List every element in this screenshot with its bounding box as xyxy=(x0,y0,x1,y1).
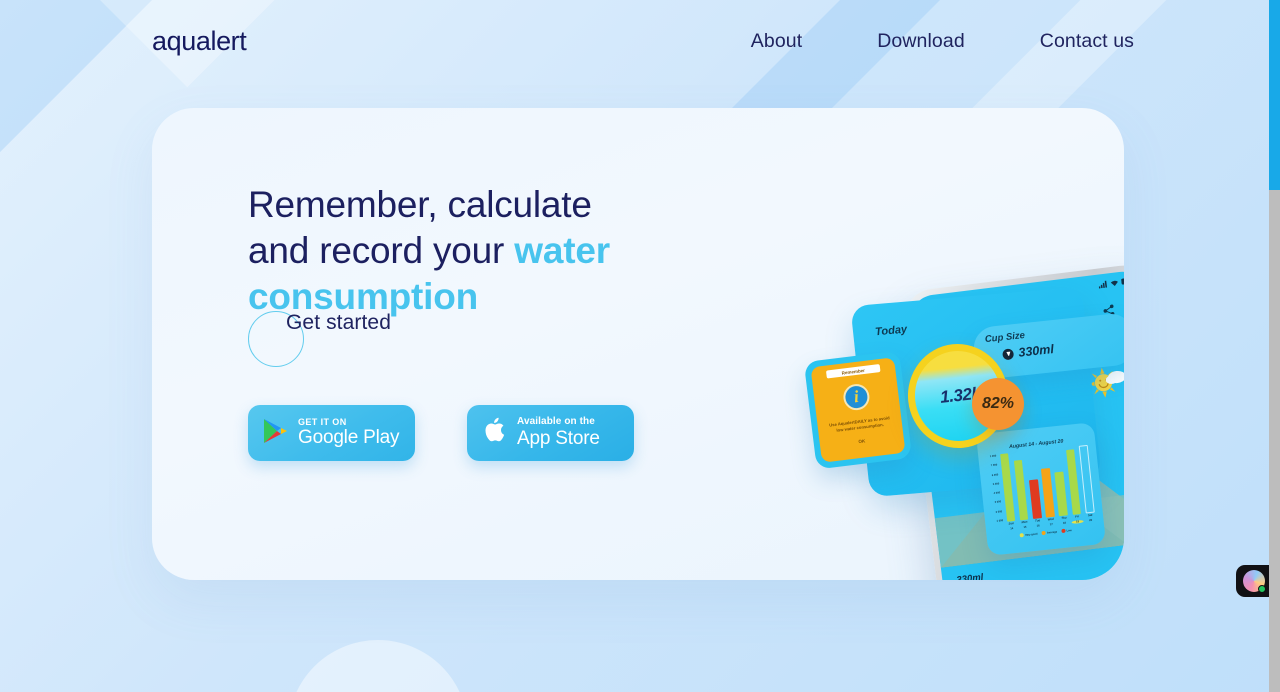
get-started-button[interactable]: Get started xyxy=(248,311,391,335)
wifi-icon xyxy=(1110,279,1119,287)
headline-accent-water: water xyxy=(514,230,610,271)
date-tick[interactable]: 18 xyxy=(1058,521,1070,525)
legend-label: Very good xyxy=(1025,532,1038,536)
weekly-chart-card: August 14 - August 20 1 000 7 000 6 000 … xyxy=(976,422,1106,556)
site-header: aqualert About Download Contact us xyxy=(0,0,1280,82)
google-play-icon xyxy=(262,417,288,450)
headline-line-1: Remember, calculate xyxy=(248,184,592,225)
cup-icon xyxy=(1002,348,1014,360)
remember-ok-button[interactable]: OK xyxy=(858,438,865,444)
legend-item: Low xyxy=(1061,528,1072,533)
chat-widget-button[interactable] xyxy=(1236,565,1272,597)
y-tick: 6 000 xyxy=(987,473,998,477)
date-tick[interactable]: 16 xyxy=(1032,524,1044,528)
status-icons xyxy=(1098,277,1124,288)
hero-card: Remember, calculateand record your water… xyxy=(152,108,1124,580)
signal-icon xyxy=(1098,280,1108,288)
chart-plot: 1 000 7 000 6 000 5 000 4 000 3 000 2 00… xyxy=(985,445,1096,523)
date-tick[interactable]: 15 xyxy=(1019,525,1031,529)
today-label: Today xyxy=(875,324,908,339)
avatar xyxy=(1243,570,1265,592)
nav-item-contact-us[interactable]: Contact us xyxy=(1040,30,1134,53)
page-background: aqualert About Download Contact us Remem… xyxy=(0,0,1280,692)
legend-item: Average xyxy=(1041,530,1057,536)
percent-badge: 82% xyxy=(972,378,1024,430)
battery-icon xyxy=(1121,277,1124,284)
google-play-button[interactable]: GET IT ON Google Play xyxy=(248,405,415,461)
legend-dot xyxy=(1041,531,1045,535)
bg-circle xyxy=(288,640,468,692)
app-mockup: 09:41 aqualert xyxy=(652,108,1124,578)
y-tick: 1 000 xyxy=(985,454,996,458)
date-tick[interactable]: 14 xyxy=(1006,527,1018,531)
date-tick[interactable]: 17 xyxy=(1045,523,1057,527)
legend-label: Low xyxy=(1066,529,1071,533)
y-tick: 3 000 xyxy=(990,501,1001,505)
date-tick-selected[interactable]: 19 xyxy=(1072,520,1084,524)
remember-body: Use AqualertDAILY as to avoid low water … xyxy=(829,415,891,435)
google-play-text: GET IT ON Google Play xyxy=(298,418,399,448)
brand-logo[interactable]: aqualert xyxy=(152,26,246,57)
google-play-main-label: Google Play xyxy=(298,428,399,448)
main-navigation: About Download Contact us xyxy=(751,30,1134,53)
info-icon: i xyxy=(842,383,871,412)
chart-bar xyxy=(1055,472,1068,516)
y-tick: 5 000 xyxy=(988,482,999,486)
scrollbar-thumb[interactable] xyxy=(1269,0,1280,190)
nav-item-about[interactable]: About xyxy=(751,30,802,53)
page-title: Remember, calculateand record your water… xyxy=(248,182,668,320)
app-store-top-label: Available on the xyxy=(517,417,600,428)
cup-size-value: 330ml xyxy=(1018,342,1055,360)
status-badge xyxy=(1258,585,1266,593)
hero-text-block: Remember, calculateand record your water… xyxy=(248,182,668,320)
y-tick: 2 000 xyxy=(991,510,1002,514)
store-badges: GET IT ON Google Play Available on the A… xyxy=(248,405,634,461)
y-tick: 7 000 xyxy=(986,464,997,468)
legend-item: Very good xyxy=(1019,532,1037,538)
apple-icon xyxy=(481,416,507,451)
remember-title: Remember xyxy=(826,364,881,379)
legend-label: Average xyxy=(1047,530,1057,534)
date-tick[interactable]: 20 xyxy=(1085,518,1097,522)
legend-dot xyxy=(1061,529,1065,533)
app-store-button[interactable]: Available on the App Store xyxy=(467,405,634,461)
app-store-text: Available on the App Store xyxy=(517,417,600,448)
nav-item-download[interactable]: Download xyxy=(877,30,965,53)
remember-notification-card: Remember i Use AqualertDAILY as to avoid… xyxy=(804,351,912,470)
headline-line-2: and record your xyxy=(248,230,514,271)
app-store-main-label: App Store xyxy=(517,429,600,449)
y-tick: 4 000 xyxy=(989,491,1000,495)
legend-dot xyxy=(1019,533,1023,537)
page-scrollbar[interactable] xyxy=(1269,0,1280,692)
get-started-label: Get started xyxy=(286,311,391,335)
google-play-top-label: GET IT ON xyxy=(298,418,399,427)
chart-bar xyxy=(1029,479,1042,519)
